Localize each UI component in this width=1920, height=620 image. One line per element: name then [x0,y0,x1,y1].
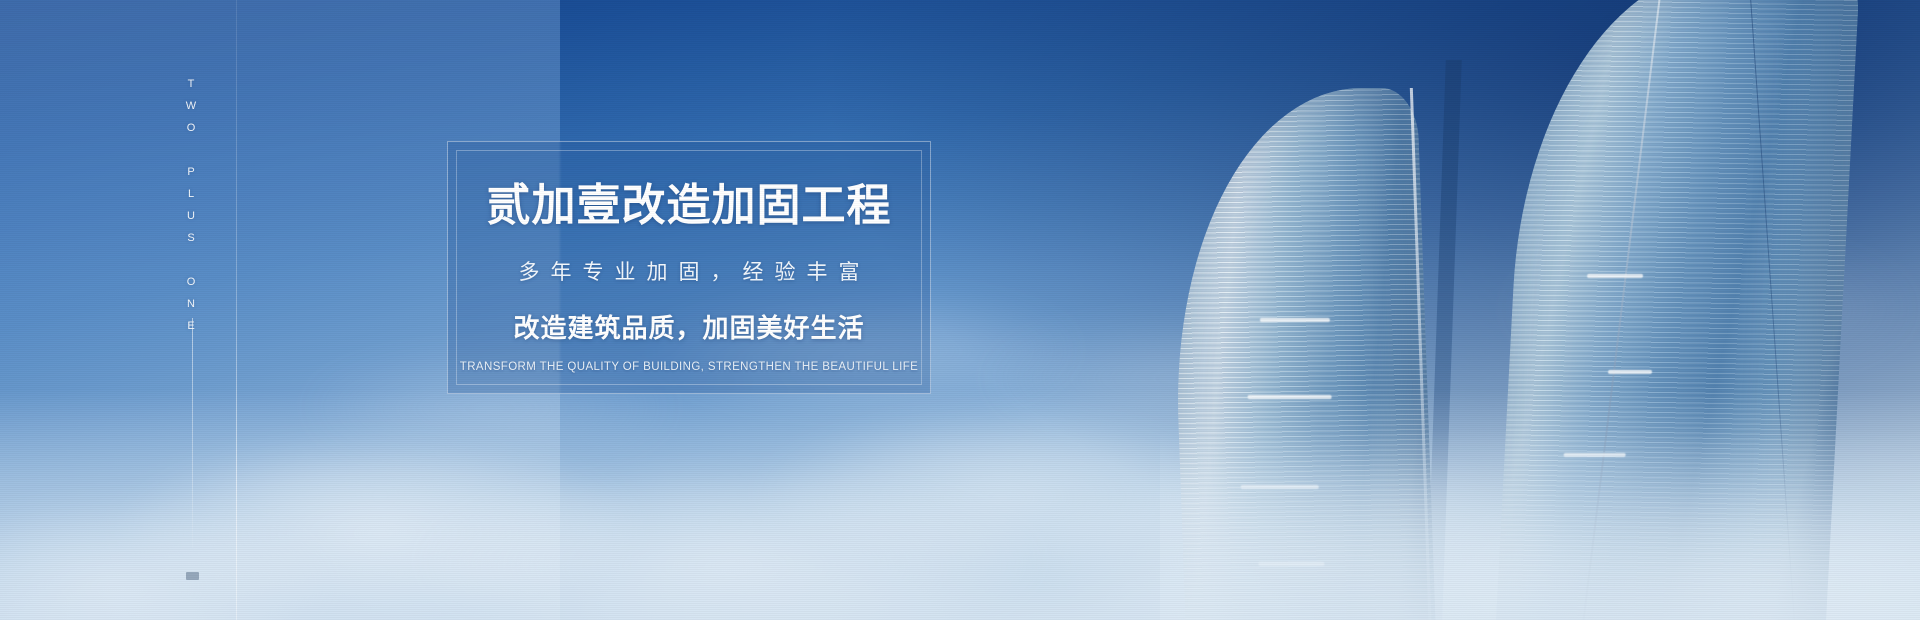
brand-vertical-label: TWO PLUS ONE [185,78,197,342]
vertical-divider-line [236,0,237,620]
hero-text-panel: 贰加壹改造加固工程 多年专业加固，经验丰富 改造建筑品质，加固美好生活 TRAN… [447,141,931,394]
hero-banner: TWO PLUS ONE 贰加壹改造加固工程 多年专业加固，经验丰富 改造建筑品… [0,0,1920,620]
hero-subheadline: 多年专业加固，经验丰富 [508,256,871,286]
bottom-haze [0,390,1920,620]
window-light-band [1587,274,1643,278]
hero-text-content: 贰加壹改造加固工程 多年专业加固，经验丰富 改造建筑品质，加固美好生活 TRAN… [448,142,930,393]
brand-accent-rule [192,318,193,548]
hero-english-tagline: TRANSFORM THE QUALITY OF BUILDING, STREN… [460,361,918,373]
brand-mark-icon [186,572,199,580]
window-light-band [1608,370,1652,374]
window-light-band [1260,318,1330,322]
hero-headline: 贰加壹改造加固工程 [487,182,892,230]
brand-vertical-text: TWO PLUS ONE [178,78,204,308]
hero-tagline: 改造建筑品质，加固美好生活 [513,308,864,345]
